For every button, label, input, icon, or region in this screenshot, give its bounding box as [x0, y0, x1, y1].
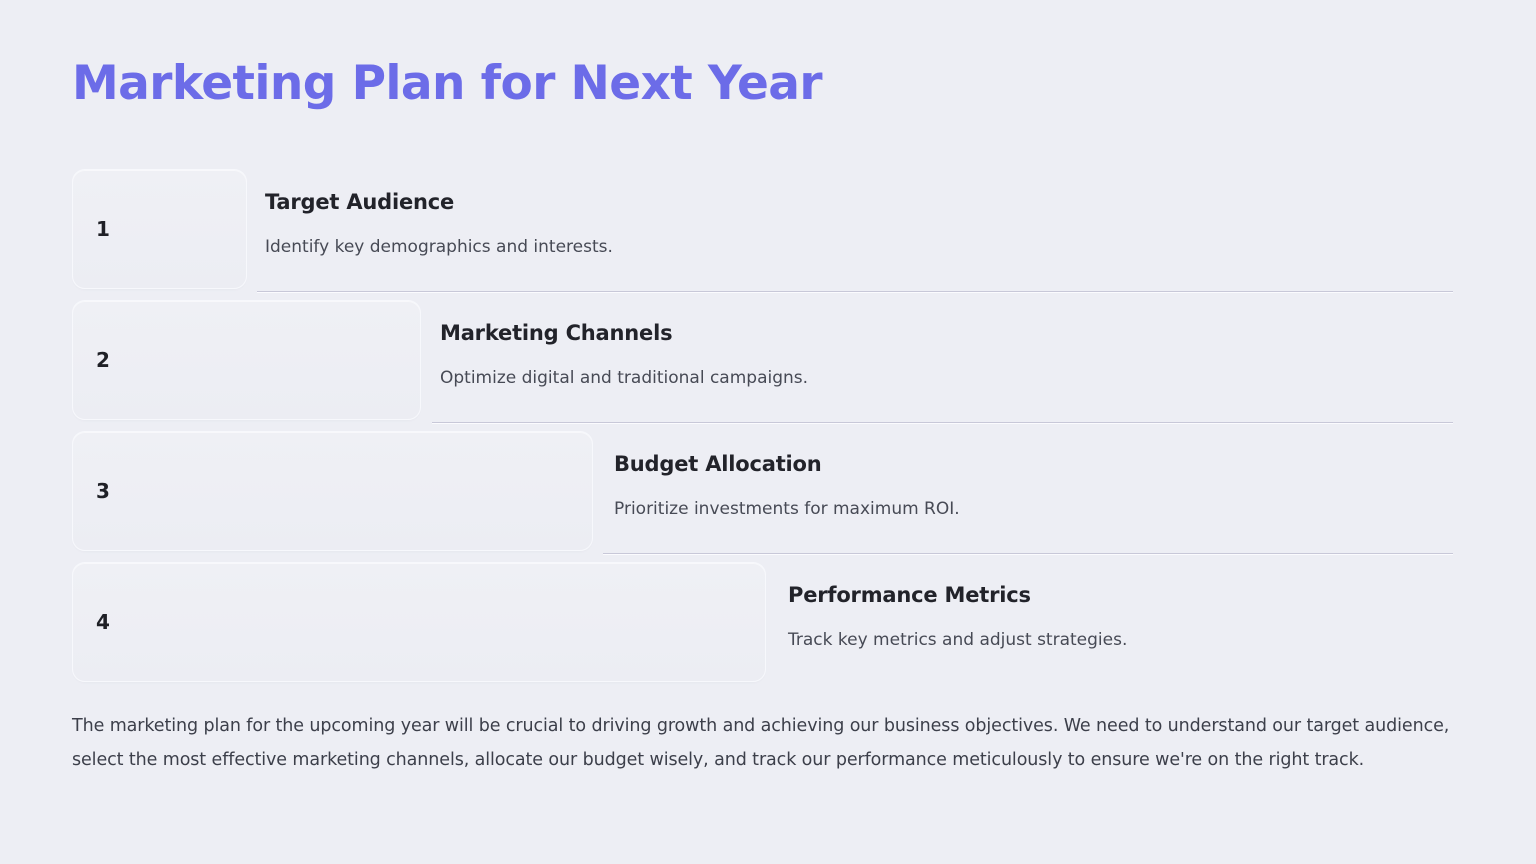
step-content: Performance Metrics Track key metrics an… [788, 582, 1127, 651]
step-divider [432, 422, 1453, 423]
step-divider [603, 553, 1453, 554]
step-heading: Target Audience [265, 189, 613, 215]
step-heading: Performance Metrics [788, 582, 1127, 608]
step-content: Budget Allocation Prioritize investments… [614, 451, 960, 520]
step-description: Track key metrics and adjust strategies. [788, 629, 1127, 651]
step-number-box: 2 [72, 300, 421, 420]
page-title: Marketing Plan for Next Year [72, 57, 822, 111]
summary-paragraph: The marketing plan for the upcoming year… [72, 710, 1460, 777]
step-heading: Budget Allocation [614, 451, 960, 477]
step-number-box: 1 [72, 169, 247, 289]
step-number: 4 [96, 612, 110, 632]
list-item[interactable]: 1 Target Audience Identify key demograph… [0, 169, 1536, 300]
step-number-box: 4 [72, 562, 766, 682]
step-number: 3 [96, 481, 110, 501]
step-description: Identify key demographics and interests. [265, 236, 613, 258]
step-content: Target Audience Identify key demographic… [265, 189, 613, 258]
step-content: Marketing Channels Optimize digital and … [440, 320, 808, 389]
step-heading: Marketing Channels [440, 320, 808, 346]
step-number-box: 3 [72, 431, 593, 551]
step-number: 1 [96, 219, 110, 239]
list-item[interactable]: 4 Performance Metrics Track key metrics … [0, 562, 1536, 693]
step-number: 2 [96, 350, 110, 370]
slide-canvas: Marketing Plan for Next Year 1 Target Au… [0, 0, 1536, 864]
steps-list: 1 Target Audience Identify key demograph… [0, 169, 1536, 693]
step-divider [257, 291, 1453, 292]
list-item[interactable]: 2 Marketing Channels Optimize digital an… [0, 300, 1536, 431]
list-item[interactable]: 3 Budget Allocation Prioritize investmen… [0, 431, 1536, 562]
step-description: Prioritize investments for maximum ROI. [614, 498, 960, 520]
step-description: Optimize digital and traditional campaig… [440, 367, 808, 389]
